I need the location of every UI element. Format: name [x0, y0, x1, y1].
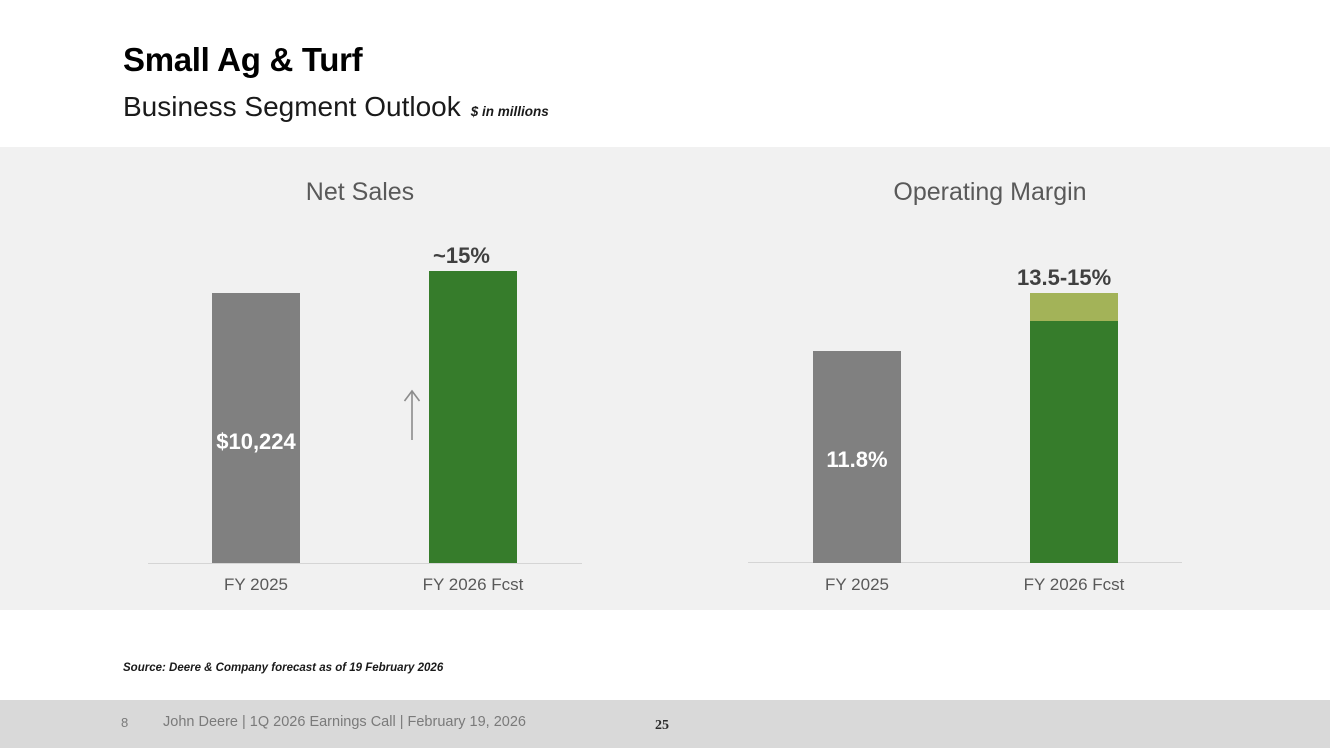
growth-annotation-net-sales: ~15% [433, 245, 490, 267]
range-annotation-operating-margin: 13.5-15% [1017, 267, 1111, 289]
axis-label-fy2026-operating-margin: FY 2026 Fcst [1014, 576, 1134, 593]
chart-operating-margin: Operating Margin 11.8% 13.5-15% FY 2025 … [690, 147, 1290, 610]
bar-value-label-fy2025: 11.8% [813, 449, 901, 471]
plot-area-operating-margin: 11.8% 13.5-15% FY 2025 FY 2026 Fcst [690, 147, 1290, 610]
bar-segment-range-upper[interactable] [1030, 293, 1118, 321]
arrow-up-icon [402, 387, 422, 442]
chart-net-sales: Net Sales $10,224 ~15% FY 2025 FY 2026 F… [60, 147, 660, 610]
bar-fy2025-operating-margin[interactable]: 11.8% [813, 351, 901, 563]
source-note: Source: Deere & Company forecast as of 1… [123, 663, 443, 675]
page-subtitle: Business Segment Outlook [123, 93, 461, 121]
plot-area-net-sales: $10,224 ~15% FY 2025 FY 2026 Fcst [60, 147, 660, 610]
footer-page-label: 8 [121, 716, 128, 729]
page-title: Small Ag & Turf [123, 43, 362, 76]
bar-fy2025-net-sales[interactable]: $10,224 [212, 293, 300, 563]
axis-baseline [148, 563, 582, 564]
bar-value-label-fy2025: $10,224 [212, 431, 300, 453]
slide-number: 25 [655, 719, 669, 733]
charts-panel: Net Sales $10,224 ~15% FY 2025 FY 2026 F… [0, 147, 1330, 610]
bar-fy2026-net-sales[interactable] [429, 271, 517, 563]
footer-text: John Deere | 1Q 2026 Earnings Call | Feb… [163, 715, 526, 730]
slide-header: Small Ag & Turf Business Segment Outlook… [0, 0, 1330, 147]
units-note: $ in millions [471, 105, 549, 119]
bar-fy2026-operating-margin[interactable] [1030, 321, 1118, 563]
axis-label-fy2025-operating-margin: FY 2025 [797, 576, 917, 593]
axis-label-fy2025-net-sales: FY 2025 [196, 576, 316, 593]
slide-footer: 8 John Deere | 1Q 2026 Earnings Call | F… [0, 700, 1330, 748]
axis-label-fy2026-net-sales: FY 2026 Fcst [413, 576, 533, 593]
subtitle-row: Business Segment Outlook $ in millions [123, 93, 549, 121]
